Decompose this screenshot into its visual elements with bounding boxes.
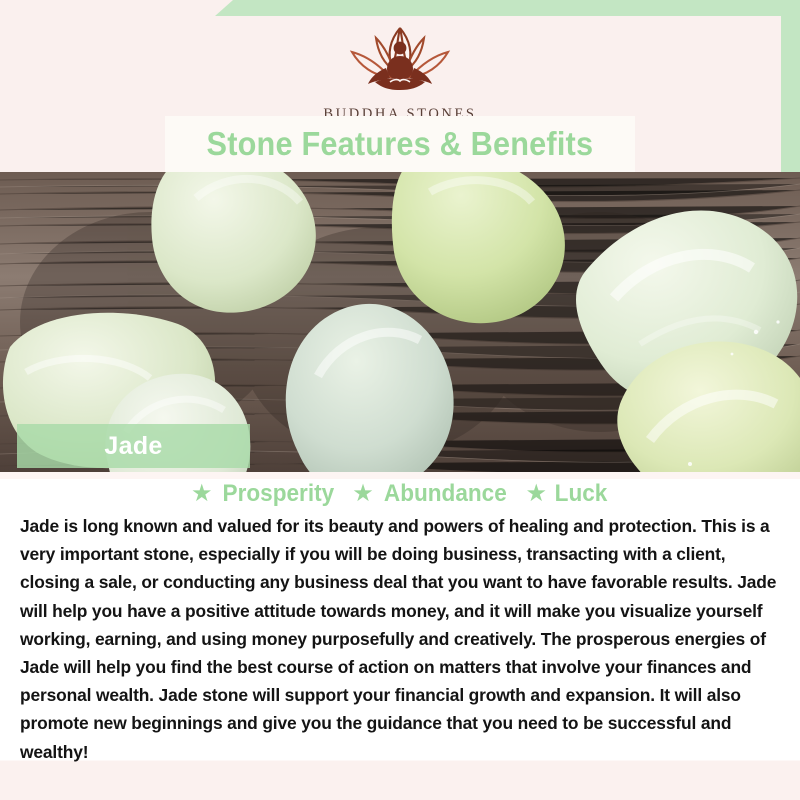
benefits-row: ★ Prosperity ★ Abundance ★ Luck [0, 472, 800, 510]
brand-logo: BUDDHA STONES [320, 22, 480, 123]
benefit-label: Luck [555, 480, 608, 508]
star-icon: ★ [352, 482, 374, 506]
star-icon: ★ [525, 482, 547, 506]
stone-name: Jade [104, 432, 162, 461]
star-icon: ★ [191, 482, 213, 506]
stone-description: Jade is long known and valued for its be… [0, 510, 800, 766]
title-banner: Stone Features & Benefits [165, 116, 635, 172]
stone-name-badge: Jade [17, 424, 250, 468]
benefit-item-prosperity: ★ Prosperity [191, 480, 337, 508]
benefit-item-luck: ★ Luck [525, 480, 609, 508]
benefit-label: Abundance [384, 480, 507, 508]
benefit-label: Prosperity [222, 480, 334, 508]
lotus-meditation-icon [320, 22, 480, 100]
benefit-item-abundance: ★ Abundance [352, 480, 510, 508]
content-panel: ★ Prosperity ★ Abundance ★ Luck Jade is … [0, 472, 800, 800]
page-title: Stone Features & Benefits [207, 125, 594, 163]
